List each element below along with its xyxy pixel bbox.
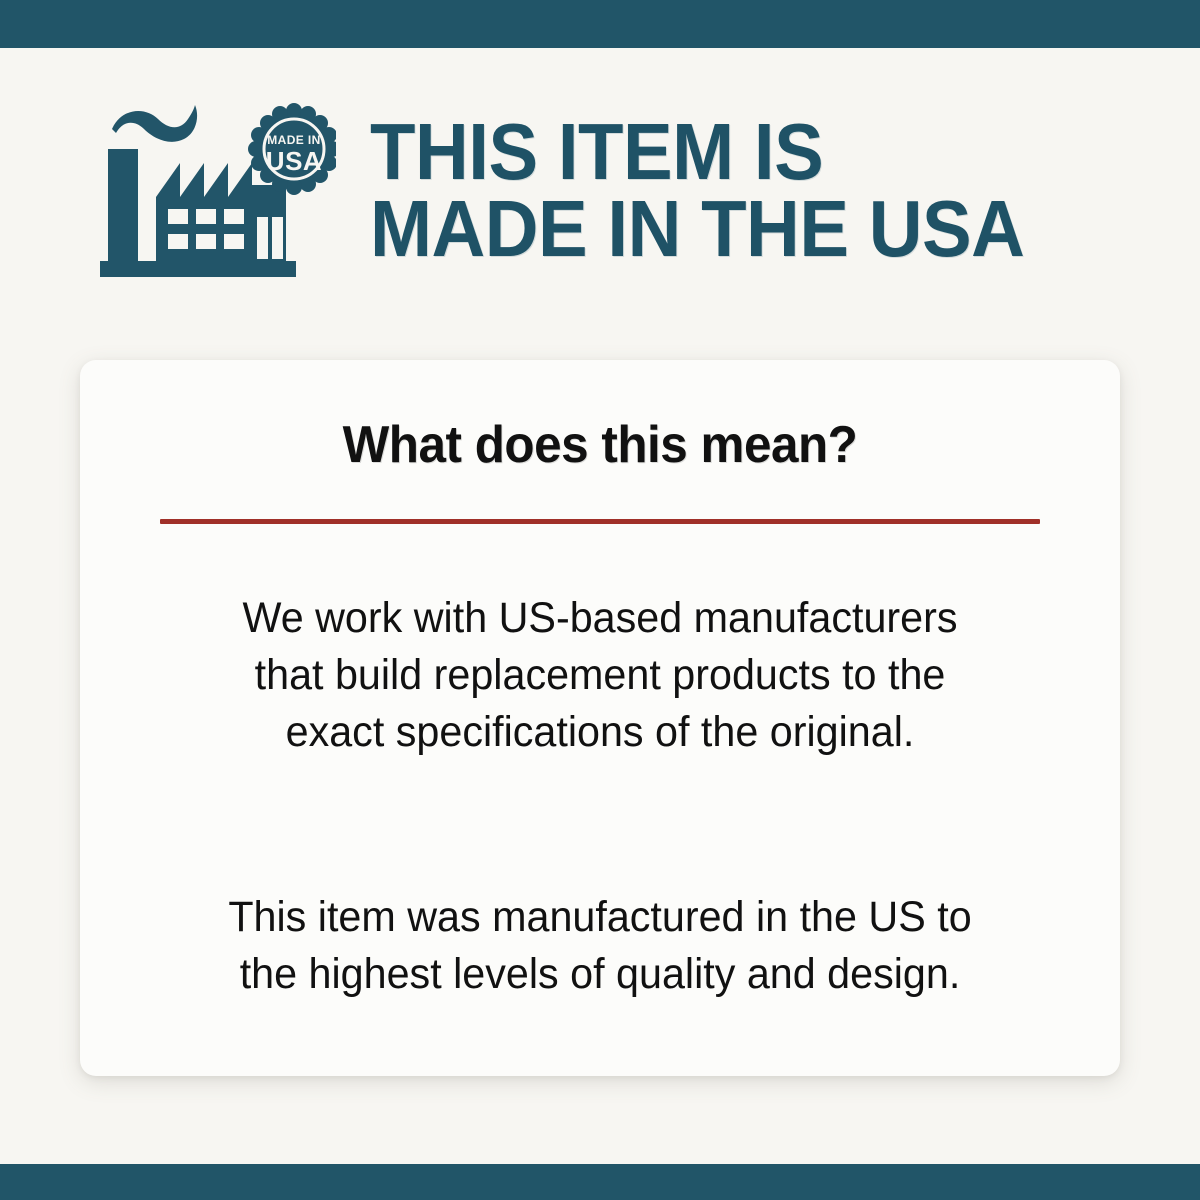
card-heading: What does this mean? bbox=[163, 418, 1037, 473]
page-root: MADE IN USA THIS ITEM IS MADE IN THE USA… bbox=[0, 0, 1200, 1200]
card-body: We work with US-based manufacturers that… bbox=[140, 590, 1060, 1004]
badge-line1-text: MADE IN bbox=[267, 133, 320, 147]
page-title: THIS ITEM IS MADE IN THE USA bbox=[370, 114, 1105, 268]
top-accent-bar bbox=[0, 0, 1200, 48]
info-card: What does this mean? We work with US-bas… bbox=[80, 360, 1120, 1076]
heading-divider bbox=[160, 519, 1040, 524]
factory-icon: MADE IN USA bbox=[100, 101, 336, 281]
body-paragraph-1: We work with US-based manufacturers that… bbox=[158, 590, 1041, 762]
body-paragraph-2: This item was manufactured in the US to … bbox=[158, 889, 1041, 1003]
badge-line2-text: USA bbox=[266, 146, 322, 176]
header: MADE IN USA THIS ITEM IS MADE IN THE USA bbox=[100, 96, 1160, 286]
bottom-accent-bar bbox=[0, 1164, 1200, 1200]
